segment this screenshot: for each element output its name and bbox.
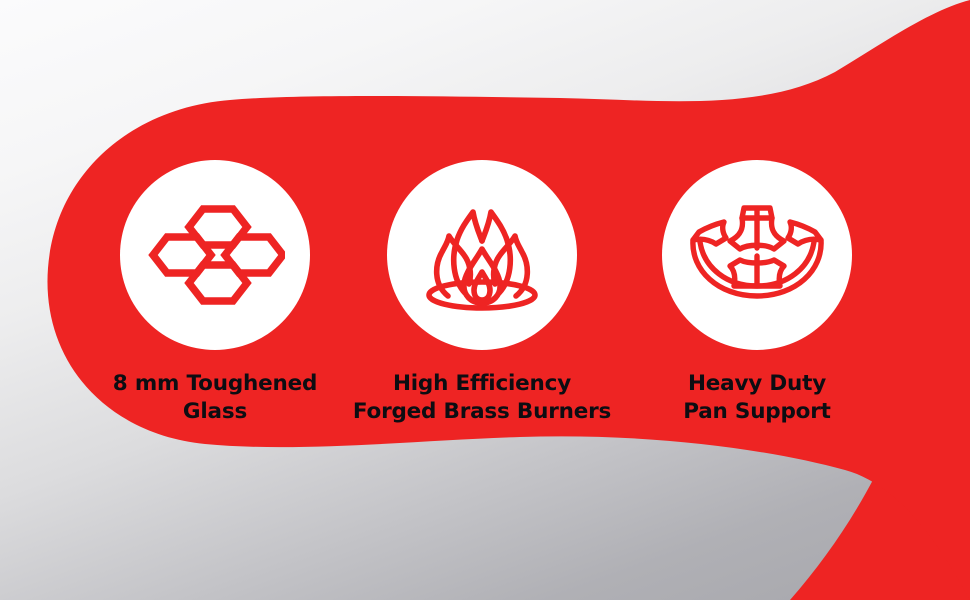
honeycomb-glass-icon <box>145 195 285 315</box>
flame-burner-icon <box>417 192 547 318</box>
feature-item-pan-support: Heavy Duty Pan Support <box>607 160 907 427</box>
feature-label-toughened-glass: 8 mm Toughened Glass <box>113 370 317 427</box>
feature-item-brass-burners: High Efficiency Forged Brass Burners <box>332 160 632 427</box>
pan-support-trivet-icon <box>682 196 832 314</box>
icon-circle-toughened-glass <box>120 160 310 350</box>
icon-circle-brass-burners <box>387 160 577 350</box>
feature-item-toughened-glass: 8 mm Toughened Glass <box>65 160 365 427</box>
icon-circle-pan-support <box>662 160 852 350</box>
feature-label-pan-support: Heavy Duty Pan Support <box>683 370 831 427</box>
feature-label-brass-burners: High Efficiency Forged Brass Burners <box>353 370 611 427</box>
feature-banner: 8 mm Toughened Glass <box>0 0 970 600</box>
feature-list: 8 mm Toughened Glass <box>0 0 970 600</box>
